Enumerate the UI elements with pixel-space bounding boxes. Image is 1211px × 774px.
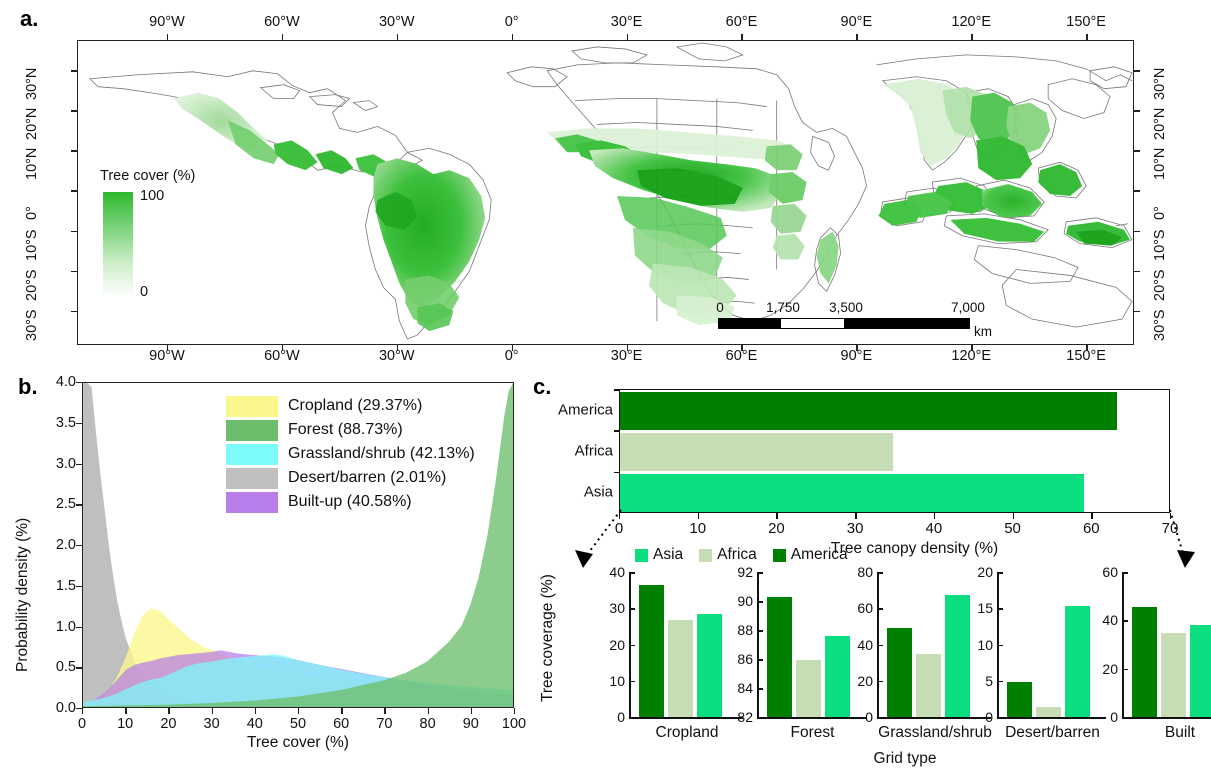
lat-tick-right-5 [1134, 271, 1140, 273]
mini-ytick-0-3: 30 [593, 600, 625, 616]
mini-ytick-mark-2-1 [877, 681, 883, 683]
panel-b-xtick-7: 70 [376, 716, 392, 732]
panel-b-xtick-mark-10 [514, 708, 515, 714]
mini-ytick-0-1: 10 [593, 673, 625, 689]
panel-b-xtick-1: 10 [117, 716, 133, 732]
panel-b-ytick-mark-5 [76, 504, 82, 505]
lat-label-right-3: 0° [1152, 207, 1168, 221]
continent-xtick-5: 50 [1004, 520, 1021, 537]
panel-b-xtick-mark-6 [341, 708, 342, 714]
mini-chart-built: 0204060Built [1122, 572, 1211, 772]
lat-tick-right-3 [1134, 190, 1140, 192]
panel-b-xtick-2: 20 [160, 716, 176, 732]
continent-xtick-mark-4 [934, 513, 935, 519]
mini-ytick-0-4: 40 [593, 564, 625, 580]
lon-tick-bottom-7 [971, 345, 973, 351]
lon-tick-top-4 [627, 34, 629, 40]
mini-ytick-2-2: 40 [841, 637, 873, 653]
panel-b-xtick-9: 90 [463, 716, 479, 732]
panel-b-xtick-mark-3 [212, 708, 213, 714]
mini-ytick-mark-4-3 [1122, 572, 1128, 574]
mini-ytick-1-5: 92 [721, 564, 753, 580]
mini-ytick-mark-1-3 [757, 630, 763, 632]
mini-bar-built-africa [1161, 633, 1186, 717]
continent-xtick-mark-6 [1091, 513, 1092, 519]
panel-b-xtick-10: 100 [502, 716, 526, 732]
continent-xtick-0: 0 [615, 520, 623, 537]
scale-tick-1750: 1,750 [766, 300, 800, 315]
mini-ytick-mark-3-1 [997, 681, 1003, 683]
lon-tick-bottom-8 [1086, 345, 1088, 351]
mini-ytick-mark-0-3 [629, 608, 635, 610]
continent-density-plot-area [619, 389, 1170, 513]
lon-label-top-3: 0° [505, 14, 519, 30]
mini-bar-forest-america [767, 597, 792, 717]
mini-category-label-4: Built [1165, 724, 1195, 742]
mini-ytick-mark-1-0 [757, 717, 763, 719]
mini-ytick-4-0: 0 [1086, 709, 1118, 725]
mini-ytick-1-3: 88 [721, 622, 753, 638]
panel-c-x-axis-label: Grid type [874, 750, 937, 768]
continent-xtick-6: 60 [1083, 520, 1100, 537]
lon-label-top-4: 30°E [611, 14, 643, 30]
panel-b-ytick-mark-3 [76, 586, 82, 587]
mini-ytick-mark-0-4 [629, 572, 635, 574]
gridtype-subplots-row: 010203040Cropland828486889092Forest02040… [577, 572, 1207, 772]
mini-ytick-1-4: 90 [721, 593, 753, 609]
mini-ytick-mark-4-1 [1122, 669, 1128, 671]
mini-baseline-4 [1122, 717, 1211, 719]
mini-y-axis-1 [757, 572, 759, 717]
lat-tick-left-0 [71, 70, 77, 72]
lat-tick-right-4 [1134, 231, 1140, 233]
panel-b-xtick-mark-4 [255, 708, 256, 714]
panel-b-ytick-mark-2 [76, 627, 82, 628]
mini-ytick-mark-4-2 [1122, 620, 1128, 622]
scale-tick-7000: 7,000 [951, 300, 985, 315]
scale-tick-3500: 3,500 [829, 300, 863, 315]
continent-xtick-4: 40 [926, 520, 943, 537]
lat-tick-left-6 [71, 311, 77, 313]
mini-ytick-mark-2-2 [877, 645, 883, 647]
legend-swatch-4 [226, 492, 278, 513]
continent-bar-america [620, 392, 1117, 430]
gridtype-legend-swatch-0 [635, 549, 648, 562]
lat-label-right-5: 20°S [1152, 269, 1168, 301]
lon-tick-top-8 [1086, 34, 1088, 40]
mini-ytick-4-2: 40 [1086, 612, 1118, 628]
legend-label-3: Desert/barren (2.01%) [288, 469, 446, 487]
panel-b-xtick-mark-8 [428, 708, 429, 714]
continent-ytick-0 [614, 389, 619, 391]
continent-xtick-mark-3 [855, 513, 856, 519]
continent-xtick-mark-5 [1013, 513, 1014, 519]
lon-tick-top-5 [741, 34, 743, 40]
lat-label-left-6: 30°S [24, 309, 40, 341]
scale-bar-white-segment [781, 318, 844, 329]
gridtype-legend-swatch-1 [699, 549, 712, 562]
continent-xtick-7: 70 [1162, 520, 1179, 537]
lon-tick-bottom-4 [627, 345, 629, 351]
lon-tick-top-6 [856, 34, 858, 40]
mini-bar-cropland-asia [697, 614, 722, 717]
mini-ytick-mark-2-3 [877, 608, 883, 610]
panel-c-y-axis-label: Tree coverage (%) [539, 574, 557, 702]
panel-b-xtick-mark-9 [471, 708, 472, 714]
mini-category-label-3: Desert/barren [1005, 724, 1100, 742]
mini-ytick-3-2: 10 [961, 637, 993, 653]
lon-label-top-7: 120°E [951, 14, 991, 30]
mini-bar-desert-barren-africa [1036, 707, 1061, 717]
panel-b-ytick-mark-8 [76, 382, 82, 383]
panel-c-continent-charts: c. AsiaAfricaAmerica 010203040Cropland82… [525, 372, 1211, 774]
mini-ytick-mark-3-2 [997, 645, 1003, 647]
mini-ytick-mark-3-0 [997, 717, 1003, 719]
panel-b-x-axis-label: Tree cover (%) [247, 734, 349, 752]
panel-b-ytick-3: 1.5 [34, 578, 76, 594]
mini-category-label-0: Cropland [656, 724, 719, 742]
lat-label-left-3: 0° [24, 207, 40, 221]
lon-label-top-0: 90°W [149, 14, 185, 30]
lat-tick-left-3 [71, 190, 77, 192]
mini-ytick-mark-2-0 [877, 717, 883, 719]
lon-label-top-6: 90°E [841, 14, 873, 30]
panel-b-ytick-2: 1.0 [34, 619, 76, 635]
mini-chart-forest: 828486889092Forest [757, 572, 852, 772]
lon-tick-bottom-5 [741, 345, 743, 351]
mini-bar-cropland-africa [668, 620, 693, 717]
mini-ytick-mark-2-4 [877, 572, 883, 574]
panel-b-xtick-3: 30 [204, 716, 220, 732]
lat-label-right-1: 20°N [1152, 108, 1168, 140]
mini-ytick-4-1: 20 [1086, 661, 1118, 677]
lat-tick-right-1 [1134, 110, 1140, 112]
legend-swatch-3 [226, 468, 278, 489]
lon-label-top-8: 150°E [1066, 14, 1106, 30]
panel-b-xtick-5: 50 [290, 716, 306, 732]
mini-ytick-0-0: 0 [593, 709, 625, 725]
mini-ytick-2-1: 20 [841, 673, 873, 689]
lon-tick-top-7 [971, 34, 973, 40]
continent-bar-asia [620, 474, 1084, 512]
lon-tick-bottom-0 [167, 345, 169, 351]
mini-bar-desert-barren-america [1007, 682, 1032, 717]
scale-unit-label: km [974, 324, 992, 339]
panel-a-world-map: a. [0, 0, 1211, 372]
lat-tick-left-1 [71, 110, 77, 112]
mini-y-axis-4 [1122, 572, 1124, 717]
panel-b-density-plot: b. Probability density (%) Tree cover (%… [0, 372, 525, 774]
mini-ytick-3-4: 20 [961, 564, 993, 580]
panel-b-ytick-5: 2.5 [34, 496, 76, 512]
legend-swatch-2 [226, 444, 278, 465]
gridtype-legend-label-0: Asia [653, 546, 683, 564]
panel-a-letter: a. [20, 6, 38, 32]
lon-label-top-1: 60°W [264, 14, 300, 30]
lat-label-left-2: 10°N [24, 148, 40, 180]
continent-xtick-mark-0 [619, 513, 620, 519]
panel-b-legend-item-1: Forest (88.73%) [226, 418, 475, 442]
mini-bar-forest-africa [796, 660, 821, 717]
legend-max-label: 100 [140, 188, 164, 204]
mini-ytick-3-3: 15 [961, 600, 993, 616]
legend-label-0: Cropland (29.37%) [288, 397, 422, 415]
panel-b-ytick-7: 3.5 [34, 415, 76, 431]
panel-b-xtick-0: 0 [78, 716, 86, 732]
panel-b-xtick-4: 40 [247, 716, 263, 732]
gridtype-legend-item-asia: Asia [635, 546, 683, 564]
lon-tick-bottom-2 [397, 345, 399, 351]
mini-ytick-mark-4-0 [1122, 717, 1128, 719]
lat-tick-right-6 [1134, 311, 1140, 313]
legend-label-2: Grassland/shrub (42.13%) [288, 445, 475, 463]
panel-b-ytick-1: 0.5 [34, 659, 76, 675]
legend-min-label: 0 [140, 284, 148, 300]
map-legend-title: Tree cover (%) [100, 168, 250, 184]
mini-bars-0 [639, 572, 733, 717]
continent-xtick-1: 10 [689, 520, 706, 537]
continent-label-america: America [529, 401, 613, 418]
panel-b-legend-item-3: Desert/barren (2.01%) [226, 466, 475, 490]
legend-swatch-0 [226, 396, 278, 417]
lon-tick-top-2 [397, 34, 399, 40]
panel-b-ytick-8: 4.0 [34, 374, 76, 390]
continent-ytick-2 [614, 472, 619, 474]
panel-b-ytick-mark-1 [76, 667, 82, 668]
mini-ytick-mark-1-1 [757, 688, 763, 690]
panel-b-xtick-6: 60 [333, 716, 349, 732]
panel-b-ytick-6: 3.0 [34, 456, 76, 472]
scale-tick-0: 0 [716, 300, 724, 315]
mini-ytick-mark-3-3 [997, 608, 1003, 610]
mini-bar-built-america [1132, 607, 1157, 717]
panel-b-legend-item-4: Built-up (40.58%) [226, 490, 475, 514]
mini-ytick-4-3: 60 [1086, 564, 1118, 580]
lon-label-top-2: 30°W [379, 14, 415, 30]
panel-b-ytick-mark-4 [76, 545, 82, 546]
panel-c-letter: c. [533, 374, 551, 400]
gridtype-legend-label-1: Africa [717, 546, 757, 564]
lat-tick-left-2 [71, 150, 77, 152]
gridtype-legend-item-africa: Africa [699, 546, 757, 564]
mini-ytick-1-0: 82 [721, 709, 753, 725]
mini-ytick-3-1: 5 [961, 673, 993, 689]
mini-bars-4 [1132, 572, 1211, 717]
continent-label-africa: Africa [529, 443, 613, 460]
mini-bar-grassland-shrub-america [887, 628, 912, 717]
panel-b-ytick-mark-7 [76, 423, 82, 424]
scale-bar-track [718, 318, 970, 329]
continent-xtick-3: 30 [847, 520, 864, 537]
continent-ytick-1 [614, 430, 619, 432]
continent-xtick-2: 20 [768, 520, 785, 537]
lat-label-right-4: 10°S [1152, 229, 1168, 261]
mini-ytick-mark-0-0 [629, 717, 635, 719]
lon-tick-top-0 [167, 34, 169, 40]
lon-label-top-5: 60°E [726, 14, 758, 30]
panel-b-xtick-mark-2 [168, 708, 169, 714]
panel-b-legend-item-2: Grassland/shrub (42.13%) [226, 442, 475, 466]
mini-bar-grassland-shrub-africa [916, 654, 941, 717]
lat-tick-right-0 [1134, 70, 1140, 72]
mini-category-label-2: Grassland/shrub [878, 724, 992, 742]
mini-chart-desert-barren: 05101520Desert/barren [997, 572, 1092, 772]
mini-ytick-2-3: 60 [841, 600, 873, 616]
mini-bars-3 [1007, 572, 1096, 717]
mini-ytick-2-0: 0 [841, 709, 873, 725]
legend-label-1: Forest (88.73%) [288, 421, 403, 439]
continent-xtick-mark-1 [698, 513, 699, 519]
panel-b-xtick-mark-0 [82, 708, 83, 714]
lon-tick-top-3 [512, 34, 514, 40]
mini-ytick-3-0: 0 [961, 709, 993, 725]
lon-tick-bottom-1 [282, 345, 284, 351]
gridtype-legend: AsiaAfricaAmerica [635, 546, 848, 564]
lat-tick-left-4 [71, 231, 77, 233]
lat-tick-left-5 [71, 271, 77, 273]
panel-b-legend-item-0: Cropland (29.37%) [226, 394, 475, 418]
mini-category-label-1: Forest [791, 724, 835, 742]
panel-b-ytick-4: 2.0 [34, 537, 76, 553]
continent-label-asia: Asia [529, 484, 613, 501]
mini-ytick-mark-0-1 [629, 681, 635, 683]
lat-label-left-4: 10°S [24, 229, 40, 261]
mini-ytick-2-4: 80 [841, 564, 873, 580]
mini-ytick-mark-3-4 [997, 572, 1003, 574]
mini-ytick-mark-0-2 [629, 645, 635, 647]
panel-b-xtick-mark-1 [125, 708, 126, 714]
legend-swatch-1 [226, 420, 278, 441]
map-scale-bar: 0 1,750 3,500 7,000 km [718, 300, 976, 336]
continent-x-axis-label: Tree canopy density (%) [831, 540, 998, 558]
lat-tick-right-2 [1134, 150, 1140, 152]
mini-ytick-0-2: 20 [593, 637, 625, 653]
lon-tick-bottom-6 [856, 345, 858, 351]
mini-bar-built-asia [1190, 625, 1211, 717]
panel-b-ytick-mark-6 [76, 464, 82, 465]
lat-label-left-1: 20°N [24, 108, 40, 140]
continent-bar-africa [620, 433, 893, 471]
panel-b-xtick-8: 80 [420, 716, 436, 732]
mini-bar-cropland-america [639, 585, 664, 717]
tree-cover-gradient-bar [103, 192, 133, 297]
lat-label-left-0: 30°N [24, 68, 40, 100]
lat-label-right-0: 30°N [1152, 68, 1168, 100]
legend-label-4: Built-up (40.58%) [288, 493, 412, 511]
gridtype-legend-swatch-2 [773, 549, 786, 562]
mini-ytick-mark-1-2 [757, 659, 763, 661]
mini-ytick-mark-1-4 [757, 601, 763, 603]
lon-tick-top-1 [282, 34, 284, 40]
lat-label-right-2: 10°N [1152, 148, 1168, 180]
mini-ytick-mark-1-5 [757, 572, 763, 574]
map-colour-legend: Tree cover (%) 100 0 [100, 168, 250, 313]
continent-xtick-mark-7 [1170, 513, 1171, 519]
lat-label-left-5: 20°S [24, 269, 40, 301]
lon-tick-bottom-3 [512, 345, 514, 351]
panel-b-y-axis-label: Probability density (%) [14, 518, 32, 672]
panel-b-xtick-mark-5 [298, 708, 299, 714]
mini-ytick-1-1: 84 [721, 680, 753, 696]
mini-chart-cropland: 010203040Cropland [629, 572, 729, 772]
lat-label-right-6: 30°S [1152, 309, 1168, 341]
panel-b-legend: Cropland (29.37%)Forest (88.73%)Grasslan… [226, 394, 475, 514]
mini-ytick-1-2: 86 [721, 651, 753, 667]
panel-b-ytick-0: 0.0 [34, 700, 76, 716]
panel-b-xtick-mark-7 [384, 708, 385, 714]
continent-xtick-mark-2 [776, 513, 777, 519]
